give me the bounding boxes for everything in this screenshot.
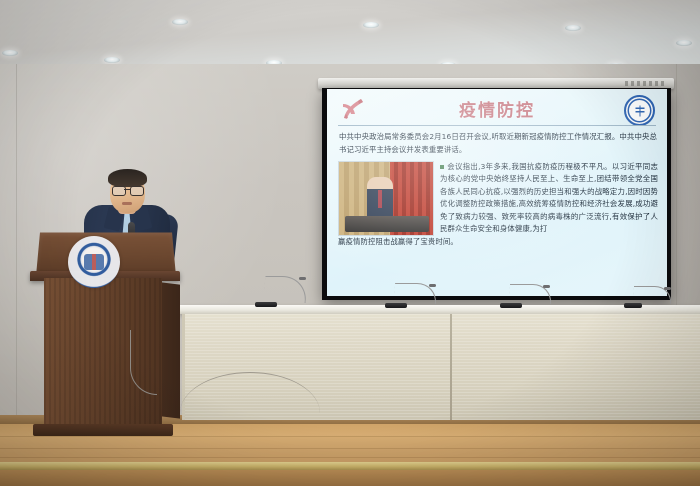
gooseneck-microphone xyxy=(385,282,445,308)
slide-title: 疫情防控 xyxy=(333,96,661,121)
slide-header: 疫情防控 xyxy=(333,92,661,126)
slide-tail-paragraph: 赢疫情防控阻击战赢得了宝贵时间。 xyxy=(333,236,661,248)
ceiling-downlight xyxy=(676,40,692,46)
ceiling-downlight xyxy=(363,22,379,28)
projector-screen: 疫情防控 中共中央政治局常务委员会2月16日召开会议,听取近期新冠疫情防控工作情… xyxy=(327,89,667,296)
ceiling-downlight xyxy=(172,19,188,25)
microphone-arm xyxy=(263,276,309,303)
microphone-base xyxy=(624,303,642,308)
microphone-base xyxy=(385,303,407,308)
ceiling-downlight xyxy=(104,57,120,63)
university-circular-logo xyxy=(624,95,655,126)
gooseneck-microphone xyxy=(500,283,558,308)
eyeglasses-bridge-icon xyxy=(124,189,130,190)
speaker-hair xyxy=(108,169,147,187)
microphone-head-icon xyxy=(429,284,436,287)
slide-bullet-paragraph: 会议指出,3年多来,我国抗疫防疫历程极不平凡。以习近平同志为核心的党中央始终坚持… xyxy=(440,161,658,236)
ceiling-downlight xyxy=(565,25,581,31)
ceiling-downlight xyxy=(2,50,18,56)
podium-base xyxy=(33,424,173,436)
wall-panel-seam xyxy=(16,64,17,416)
eyeglasses-right-lens-icon xyxy=(130,186,144,196)
gooseneck-microphone xyxy=(255,275,315,307)
floor-plank xyxy=(0,436,700,437)
speaker-mouth xyxy=(122,202,132,205)
gooseneck-microphone xyxy=(624,285,678,308)
microphone-base xyxy=(500,303,522,308)
microphone-head-icon xyxy=(664,287,671,290)
photo-podium-desk xyxy=(345,216,430,232)
microphone-head-icon xyxy=(543,285,550,288)
stage-front-face xyxy=(0,470,700,486)
microphone-base xyxy=(255,302,277,307)
bullet-square-icon xyxy=(440,165,444,169)
slide-lead-paragraph: 中共中央政治局常务委员会2月16日召开会议,听取近期新冠疫情防控工作情况汇报。中… xyxy=(333,131,661,156)
university-seal xyxy=(68,236,120,288)
title-divider xyxy=(338,125,656,126)
floor-plank xyxy=(0,448,700,449)
slide-body: 会议指出,3年多来,我国抗疫防疫历程极不平凡。以习近平同志为核心的党中央始终坚持… xyxy=(333,161,661,236)
conference-table-seam xyxy=(450,314,452,420)
microphone-head-icon xyxy=(299,277,306,280)
roller-label-icon xyxy=(625,81,665,86)
slide-photo xyxy=(338,161,434,236)
slide-bullet-text: 会议指出,3年多来,我国抗疫防疫历程极不平凡。以习近平同志为核心的党中央始终坚持… xyxy=(440,162,658,233)
lecture-hall-photo: 疫情防控 中共中央政治局常务委员会2月16日召开会议,听取近期新冠疫情防控工作情… xyxy=(0,0,700,486)
eyeglasses-left-lens-icon xyxy=(112,186,126,196)
presentation-slide: 疫情防控 中共中央政治局常务委员会2月16日召开会议,听取近期新冠疫情防控工作情… xyxy=(327,89,667,296)
floor-plank xyxy=(0,457,700,458)
stage-edge-trim xyxy=(0,462,700,470)
